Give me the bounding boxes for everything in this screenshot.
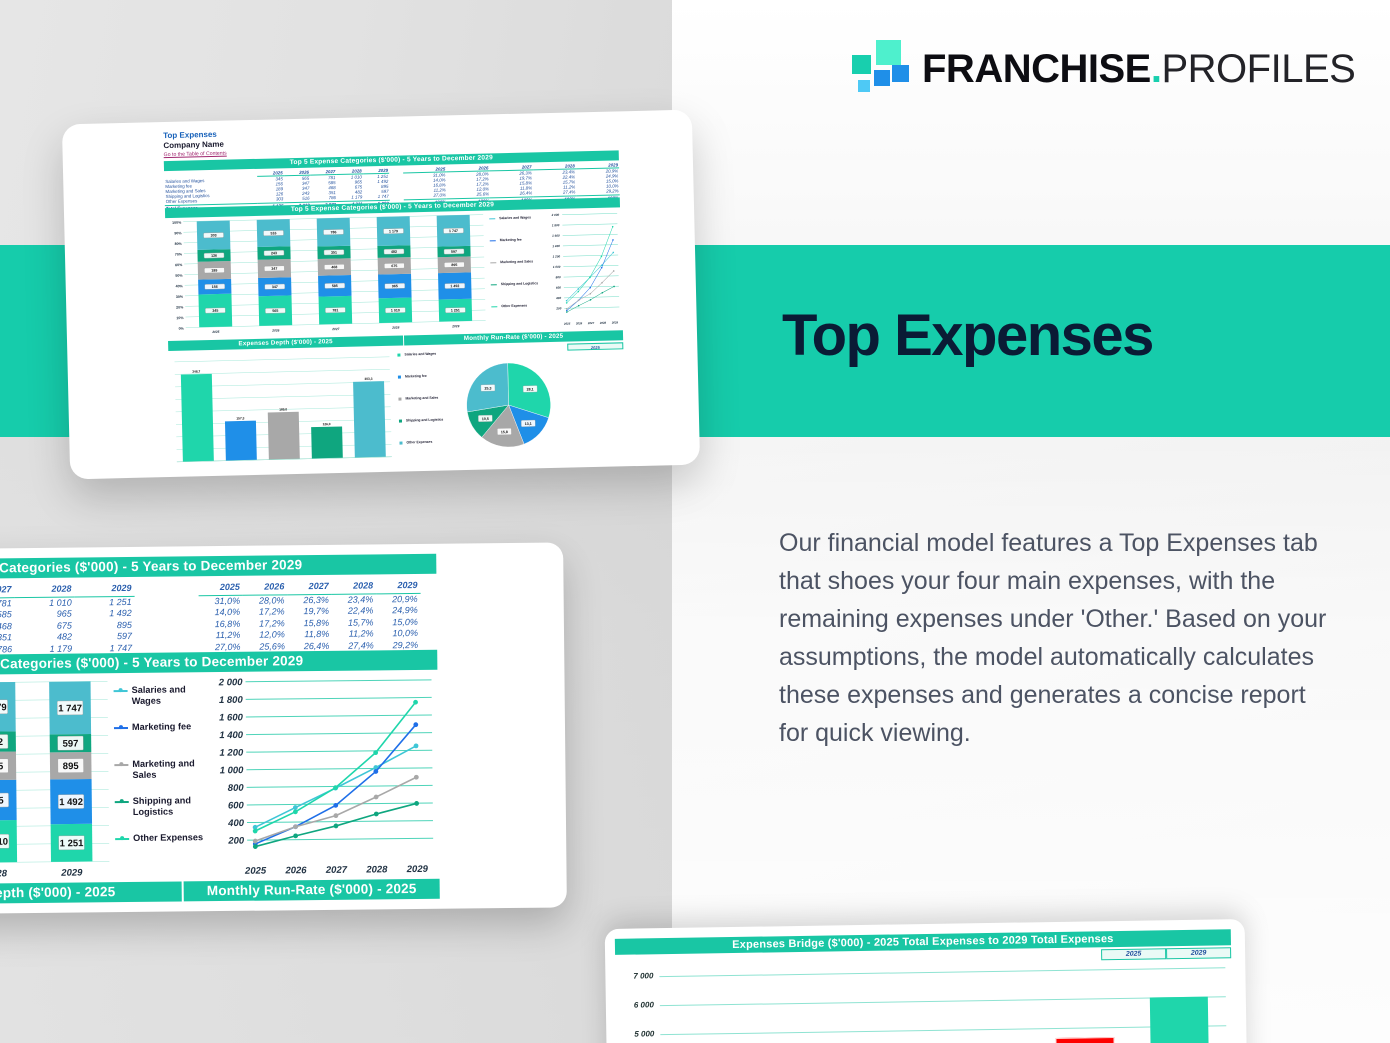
legend-marker-icon xyxy=(398,376,401,379)
svg-text:40%: 40% xyxy=(176,284,184,288)
legend-marker-icon xyxy=(399,420,402,423)
svg-text:400: 400 xyxy=(555,296,561,300)
chart-legend: Salaries and WagesMarketing feeMarketing… xyxy=(113,678,203,877)
sheet-subheading: Company Name xyxy=(163,140,224,150)
logo-dot: . xyxy=(1151,47,1162,91)
legend-marker-icon xyxy=(489,218,495,219)
svg-text:2027: 2027 xyxy=(325,865,348,876)
svg-text:1 179: 1 179 xyxy=(0,702,7,713)
svg-text:1 400: 1 400 xyxy=(552,244,560,248)
svg-text:1 492: 1 492 xyxy=(450,284,459,288)
legend-label: Marketing fee xyxy=(405,374,427,379)
legend-item: Marketing and Sales xyxy=(114,758,202,781)
svg-text:597: 597 xyxy=(451,250,457,254)
svg-text:2026: 2026 xyxy=(284,865,307,876)
svg-text:1 600: 1 600 xyxy=(552,234,560,238)
bridge-year-tags[interactable]: 2025 2029 xyxy=(1101,947,1231,960)
brand-logo: FRANCHISE.PROFILES xyxy=(852,40,1355,98)
line-chart: 2004006008001 0001 2001 4001 6001 8002 0… xyxy=(203,676,437,876)
legend-item: Marketing and Sales xyxy=(490,259,533,264)
svg-text:2 000: 2 000 xyxy=(551,213,560,217)
section-band-expenses-depth: ses Depth ($'000) - 2025 xyxy=(0,881,182,904)
svg-text:2029: 2029 xyxy=(611,320,619,324)
svg-text:1 010: 1 010 xyxy=(391,308,400,312)
svg-text:1 492: 1 492 xyxy=(59,797,83,808)
legend-marker-icon xyxy=(114,690,128,692)
legend-label: Marketing fee xyxy=(132,721,191,733)
svg-text:50%: 50% xyxy=(175,274,183,278)
sheet-heading: Top Expenses xyxy=(163,130,217,140)
svg-text:1 800: 1 800 xyxy=(219,695,244,706)
stacked-bar-chart: 78158546835178620271 0109656754821 17920… xyxy=(0,679,112,879)
svg-text:482: 482 xyxy=(391,250,397,254)
svg-text:30%: 30% xyxy=(176,295,184,299)
svg-text:28,1: 28,1 xyxy=(527,387,534,391)
svg-text:565: 565 xyxy=(272,309,278,313)
svg-text:80%: 80% xyxy=(175,242,183,246)
svg-text:90%: 90% xyxy=(174,231,182,235)
legend-label: Salaries and Wages xyxy=(499,215,531,220)
svg-text:895: 895 xyxy=(63,761,80,772)
legend-label: Marketing fee xyxy=(500,238,522,243)
y-axis-tick-label: 5 000 xyxy=(616,1029,654,1039)
waterfall-delta-bar: 1 443 xyxy=(1056,1037,1115,1043)
svg-text:189: 189 xyxy=(211,269,217,273)
logo-word-thin: PROFILES xyxy=(1161,47,1355,91)
svg-text:1 000: 1 000 xyxy=(553,265,561,269)
legend-label: Shipping and Logistics xyxy=(501,281,538,286)
svg-text:600: 600 xyxy=(556,286,561,290)
svg-text:10,5: 10,5 xyxy=(482,417,489,421)
svg-text:347: 347 xyxy=(272,285,278,289)
svg-text:1 251: 1 251 xyxy=(60,838,85,849)
legend-label: Marketing and Sales xyxy=(500,259,533,264)
line-chart-mini: 2004006008001 0001 2001 4001 6001 8002 0… xyxy=(549,209,624,327)
svg-text:786: 786 xyxy=(330,230,336,234)
legend-label: Marketing and Sales xyxy=(132,758,202,781)
svg-text:15,8: 15,8 xyxy=(501,430,508,434)
logo-wordmark: FRANCHISE.PROFILES xyxy=(922,49,1355,89)
svg-text:13,1: 13,1 xyxy=(525,422,532,426)
gridline xyxy=(660,1025,1226,1035)
svg-text:2025: 2025 xyxy=(563,322,571,326)
legend-label: Other Expenses xyxy=(501,304,527,309)
legend-marker-icon xyxy=(115,838,129,840)
expenses-depth-bar-chart-mini: 348,7157,3189,0126,0303,3 xyxy=(168,349,396,466)
svg-text:2028: 2028 xyxy=(391,326,399,330)
legend-item: Other Expenses xyxy=(399,440,432,445)
legend-marker-icon xyxy=(398,398,401,401)
svg-text:2028: 2028 xyxy=(0,868,8,879)
svg-text:345: 345 xyxy=(212,309,218,313)
table-of-contents-link[interactable]: Go to the Table of Contents xyxy=(164,151,227,158)
logo-word-bold: FRANCHISE xyxy=(922,47,1151,91)
gridline xyxy=(659,967,1225,977)
svg-text:965: 965 xyxy=(392,284,398,288)
svg-text:2027: 2027 xyxy=(587,321,595,325)
section-band-monthly-run-rate: Monthly Run-Rate ($'000) - 2025 xyxy=(184,879,440,902)
svg-text:351: 351 xyxy=(331,251,337,255)
y-axis-tick-label: 6 000 xyxy=(616,1000,654,1010)
svg-text:895: 895 xyxy=(451,263,457,267)
svg-text:2 000: 2 000 xyxy=(218,677,244,688)
svg-text:2026: 2026 xyxy=(271,328,279,332)
monthly-run-rate-pie-chart-mini: 28,113,115,810,525,3 xyxy=(452,351,564,460)
svg-text:1 800: 1 800 xyxy=(552,223,560,227)
legend-marker-icon xyxy=(491,306,497,307)
svg-text:1 000: 1 000 xyxy=(220,765,245,776)
svg-text:10%: 10% xyxy=(176,316,184,320)
svg-text:1 200: 1 200 xyxy=(219,748,244,759)
legend-label: Salaries and Wages xyxy=(132,684,202,707)
svg-text:585: 585 xyxy=(332,284,338,288)
gridline xyxy=(660,996,1226,1006)
legend-marker-icon xyxy=(114,764,128,766)
svg-text:2028: 2028 xyxy=(599,321,607,325)
svg-text:347: 347 xyxy=(271,267,277,271)
svg-text:800: 800 xyxy=(228,783,245,794)
svg-text:1 747: 1 747 xyxy=(58,703,82,714)
legend-label: Salaries and Wages xyxy=(404,352,436,357)
legend-item: Shipping and Logistics xyxy=(491,281,538,286)
legend-item: Marketing fee xyxy=(114,721,191,733)
depth-chart-legend-mini: Salaries and WagesMarketing feeMarketing… xyxy=(397,347,452,460)
svg-text:200: 200 xyxy=(227,836,245,847)
body-copy: Our financial model features a Top Expen… xyxy=(779,524,1339,752)
svg-text:800: 800 xyxy=(556,275,561,279)
screenshot-card-expense-categories[interactable]: Top 5 Expense Categories ($'000) - 5 Yea… xyxy=(0,542,567,914)
svg-text:200: 200 xyxy=(555,306,561,310)
legend-marker-icon xyxy=(490,240,496,241)
svg-text:597: 597 xyxy=(63,739,79,750)
year-filter-tag[interactable]: 2025 xyxy=(567,342,623,350)
svg-text:1 200: 1 200 xyxy=(553,254,561,258)
legend-label: Shipping and Logistics xyxy=(406,418,443,423)
section-band-categories-table: Top 5 Expense Categories ($'000) - 5 Yea… xyxy=(0,554,436,580)
svg-text:70%: 70% xyxy=(175,252,183,256)
legend-label: Other Expenses xyxy=(406,440,432,445)
svg-text:243: 243 xyxy=(271,251,277,255)
bridge-tag-2029[interactable]: 2029 xyxy=(1166,947,1231,959)
page-title: Top Expenses xyxy=(782,307,1153,365)
legend-item: Salaries and Wages xyxy=(397,352,436,357)
svg-text:348,7: 348,7 xyxy=(192,370,200,374)
legend-item: Salaries and Wages xyxy=(114,684,202,707)
svg-text:189,0: 189,0 xyxy=(279,407,287,411)
svg-text:600: 600 xyxy=(228,800,245,811)
legend-item: Marketing fee xyxy=(490,238,522,243)
section-band-categories-chart: Top 5 Expense Categories ($'000) - 5 Yea… xyxy=(0,650,437,676)
svg-text:126,0: 126,0 xyxy=(323,422,331,426)
svg-text:100%: 100% xyxy=(172,221,182,225)
svg-text:20%: 20% xyxy=(176,305,184,309)
svg-text:2025: 2025 xyxy=(244,866,267,877)
legend-item: Marketing and Sales xyxy=(398,396,438,401)
waterfall-total-bar xyxy=(1149,997,1209,1043)
svg-text:0%: 0% xyxy=(179,327,185,331)
legend-item: Salaries and Wages xyxy=(489,215,531,220)
stacked-bar-chart-mini: 100%90%80%70%60%50%40%30%20%10%0%3451561… xyxy=(165,213,488,337)
screenshot-card-expenses-bridge[interactable]: Expenses Bridge ($'000) - 2025 Total Exp… xyxy=(605,919,1248,1043)
svg-text:1 747: 1 747 xyxy=(449,229,458,233)
svg-text:675: 675 xyxy=(391,264,397,268)
svg-text:468: 468 xyxy=(331,265,337,269)
svg-text:2026: 2026 xyxy=(575,321,583,325)
svg-text:482: 482 xyxy=(0,737,3,748)
legend-marker-icon xyxy=(399,442,402,445)
legend-item: Marketing fee xyxy=(398,374,427,379)
svg-text:1 251: 1 251 xyxy=(451,308,460,312)
legend-marker-icon xyxy=(114,727,128,729)
legend-label: Shipping and Logistics xyxy=(133,795,203,818)
svg-text:60%: 60% xyxy=(175,263,183,267)
svg-text:303,3: 303,3 xyxy=(364,377,372,381)
svg-text:25,3: 25,3 xyxy=(484,386,491,390)
svg-text:303: 303 xyxy=(211,233,217,237)
y-axis-tick-label: 7 000 xyxy=(615,971,653,981)
bridge-tag-2025[interactable]: 2025 xyxy=(1101,948,1166,960)
svg-text:126: 126 xyxy=(211,254,217,258)
svg-text:2029: 2029 xyxy=(406,864,429,875)
svg-text:2025: 2025 xyxy=(211,330,219,334)
legend-item: Other Expenses xyxy=(115,832,203,844)
logo-squares-icon xyxy=(852,40,908,98)
background-top-white xyxy=(672,0,1390,245)
screenshot-card-top-expenses[interactable]: Top Expenses Company Name Go to the Tabl… xyxy=(62,110,700,480)
legend-marker-icon xyxy=(491,284,497,285)
svg-text:2028: 2028 xyxy=(365,864,388,875)
svg-text:157,3: 157,3 xyxy=(236,416,244,420)
svg-text:2029: 2029 xyxy=(451,324,459,328)
svg-text:400: 400 xyxy=(227,818,245,829)
svg-text:781: 781 xyxy=(332,308,338,312)
legend-item: Other Expenses xyxy=(491,304,527,309)
legend-item: Shipping and Logistics xyxy=(115,795,203,818)
legend-marker-icon xyxy=(115,801,129,803)
expenses-bridge-waterfall-chart: 7 0006 0005 0004 0009067064711 443 xyxy=(615,961,1233,1043)
legend-label: Other Expenses xyxy=(133,832,203,844)
svg-text:1 400: 1 400 xyxy=(219,730,244,741)
legend-item: Shipping and Logistics xyxy=(399,418,443,423)
svg-text:1 179: 1 179 xyxy=(389,229,398,233)
legend-marker-icon xyxy=(397,354,400,357)
svg-text:2027: 2027 xyxy=(331,327,339,331)
svg-text:1 010: 1 010 xyxy=(0,837,8,848)
svg-text:516: 516 xyxy=(270,231,276,235)
legend-label: Marketing and Sales xyxy=(405,396,438,401)
svg-text:1 600: 1 600 xyxy=(219,712,244,723)
stacked-chart-legend-mini: Salaries and WagesMarketing feeMarketing… xyxy=(489,211,552,328)
legend-marker-icon xyxy=(490,262,496,263)
svg-text:156: 156 xyxy=(212,285,218,289)
svg-text:2029: 2029 xyxy=(60,867,83,878)
